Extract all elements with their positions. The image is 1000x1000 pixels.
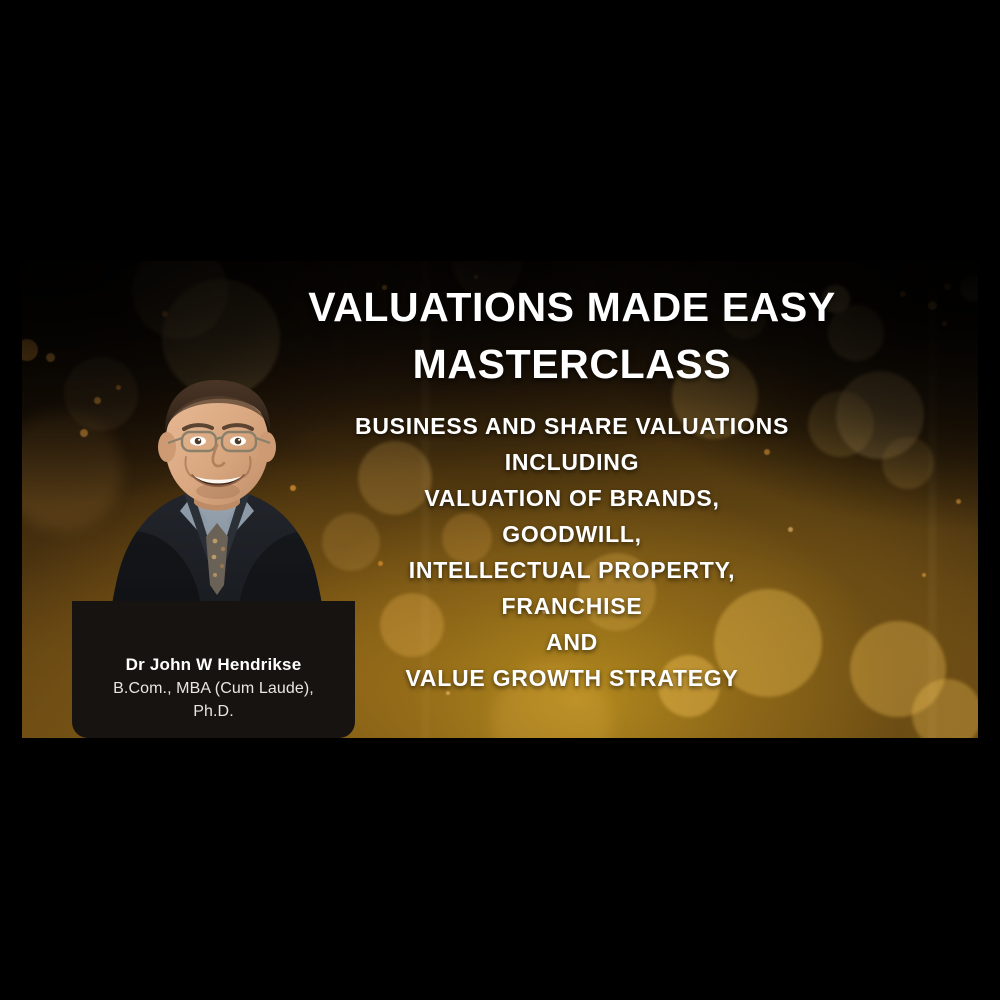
body-copy-line: INTELLECTUAL PROPERTY, [202, 552, 942, 588]
page-canvas: Dr John W Hendrikse B.Com., MBA (Cum Lau… [0, 0, 1000, 1000]
headline-line-2: MASTERCLASS [202, 336, 942, 393]
masterclass-promo-banner: Dr John W Hendrikse B.Com., MBA (Cum Lau… [22, 261, 978, 738]
banner-body-copy: BUSINESS AND SHARE VALUATIONS INCLUDING … [202, 408, 942, 696]
banner-headline: VALUATIONS MADE EASY MASTERCLASS [202, 279, 942, 393]
body-copy-line: FRANCHISE [202, 588, 942, 624]
body-copy-line: INCLUDING [202, 444, 942, 480]
body-copy-line: GOODWILL, [202, 516, 942, 552]
presenter-qualifications-line-2: Ph.D. [72, 700, 355, 723]
body-copy-line: VALUE GROWTH STRATEGY [202, 660, 942, 696]
headline-line-1: VALUATIONS MADE EASY [202, 279, 942, 336]
body-copy-line: BUSINESS AND SHARE VALUATIONS [202, 408, 942, 444]
body-copy-line: AND [202, 624, 942, 660]
body-copy-line: VALUATION OF BRANDS, [202, 480, 942, 516]
